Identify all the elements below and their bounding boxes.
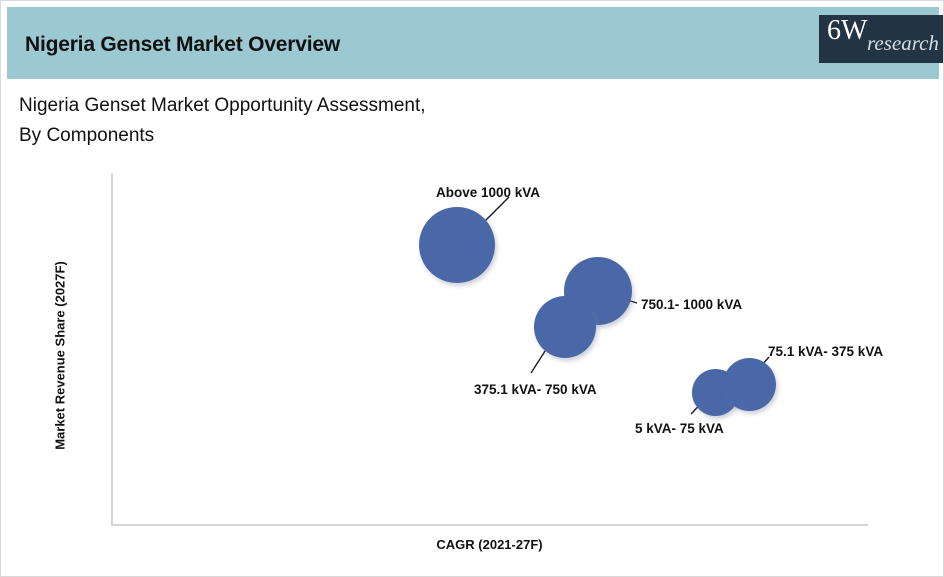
y-axis-line	[111, 173, 113, 526]
bubble-75-375-kva[interactable]	[723, 358, 776, 411]
leader-lines	[1, 1, 944, 577]
bubble-label-750-1000-kva: 750.1- 1000 kVA	[641, 297, 742, 312]
bubble-label-5-75-kva: 5 kVA- 75 kVA	[635, 421, 724, 436]
x-axis-title: CAGR (2021-27F)	[111, 537, 868, 552]
y-axis-title: Market Revenue Share (2027F)	[53, 226, 68, 486]
x-axis-line	[111, 524, 868, 526]
bubble-above-1000-kva[interactable]	[419, 207, 495, 283]
bubble-375-750-kva[interactable]	[534, 296, 596, 358]
slide-page: Nigeria Genset Market Overview 6W resear…	[0, 0, 944, 577]
bubble-label-375-750-kva: 375.1 kVA- 750 kVA	[474, 382, 597, 397]
bubble-label-75-375-kva: 75.1 kVA- 375 kVA	[768, 344, 883, 359]
bubble-chart: Market Revenue Share (2027F) CAGR (2021-…	[1, 1, 944, 577]
bubble-label-above-1000-kva: Above 1000 kVA	[436, 185, 540, 200]
